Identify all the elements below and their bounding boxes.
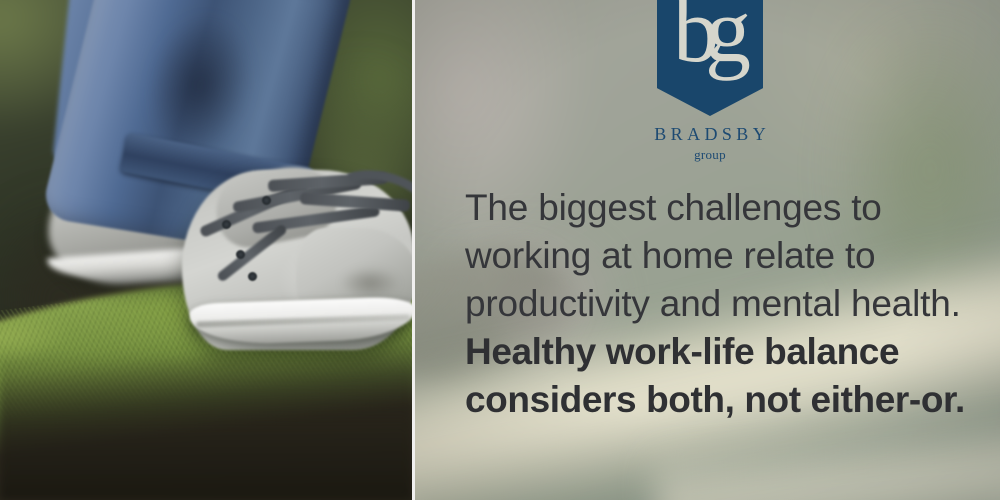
sneaker-eyelet	[236, 250, 245, 259]
quote-text: The biggest challenges to working at hom…	[465, 184, 985, 424]
photo-panel	[0, 0, 412, 500]
quote-bold-text: Healthy work-life balance considers both…	[465, 331, 965, 420]
quote-panel: bg BRADSBY group The biggest challenges …	[415, 0, 1000, 500]
sneaker-eyelet	[248, 272, 257, 281]
log-shadow	[0, 350, 412, 500]
quote-light-text: The biggest challenges to working at hom…	[465, 187, 961, 324]
sneaker-eyelet	[222, 220, 231, 229]
bradsby-shield-icon: bg	[657, 0, 763, 116]
sneaker-eyelet	[262, 196, 271, 205]
brand-name: BRADSBY	[640, 125, 780, 143]
brand-subtitle: group	[640, 148, 780, 161]
brand-logo: bg BRADSBY group	[640, 0, 780, 161]
quote-graphic-canvas: bg BRADSBY group The biggest challenges …	[0, 0, 1000, 500]
bg-monogram: bg	[657, 0, 763, 76]
